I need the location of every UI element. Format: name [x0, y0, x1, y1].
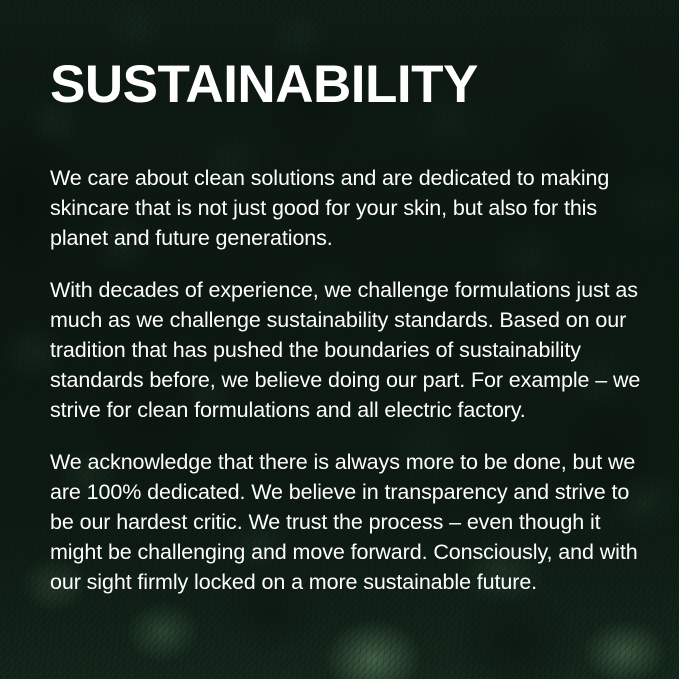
page-title: SUSTAINABILITY [50, 58, 478, 111]
sustainability-poster: SUSTAINABILITY We care about clean solut… [0, 0, 679, 679]
paragraph-3: We acknowledge that there is always more… [50, 447, 644, 597]
paragraph-2: With decades of experience, we challenge… [50, 275, 644, 425]
paragraph-1: We care about clean solutions and are de… [50, 163, 644, 253]
body-copy: We care about clean solutions and are de… [50, 163, 644, 597]
poster-content: SUSTAINABILITY We care about clean solut… [50, 0, 650, 679]
